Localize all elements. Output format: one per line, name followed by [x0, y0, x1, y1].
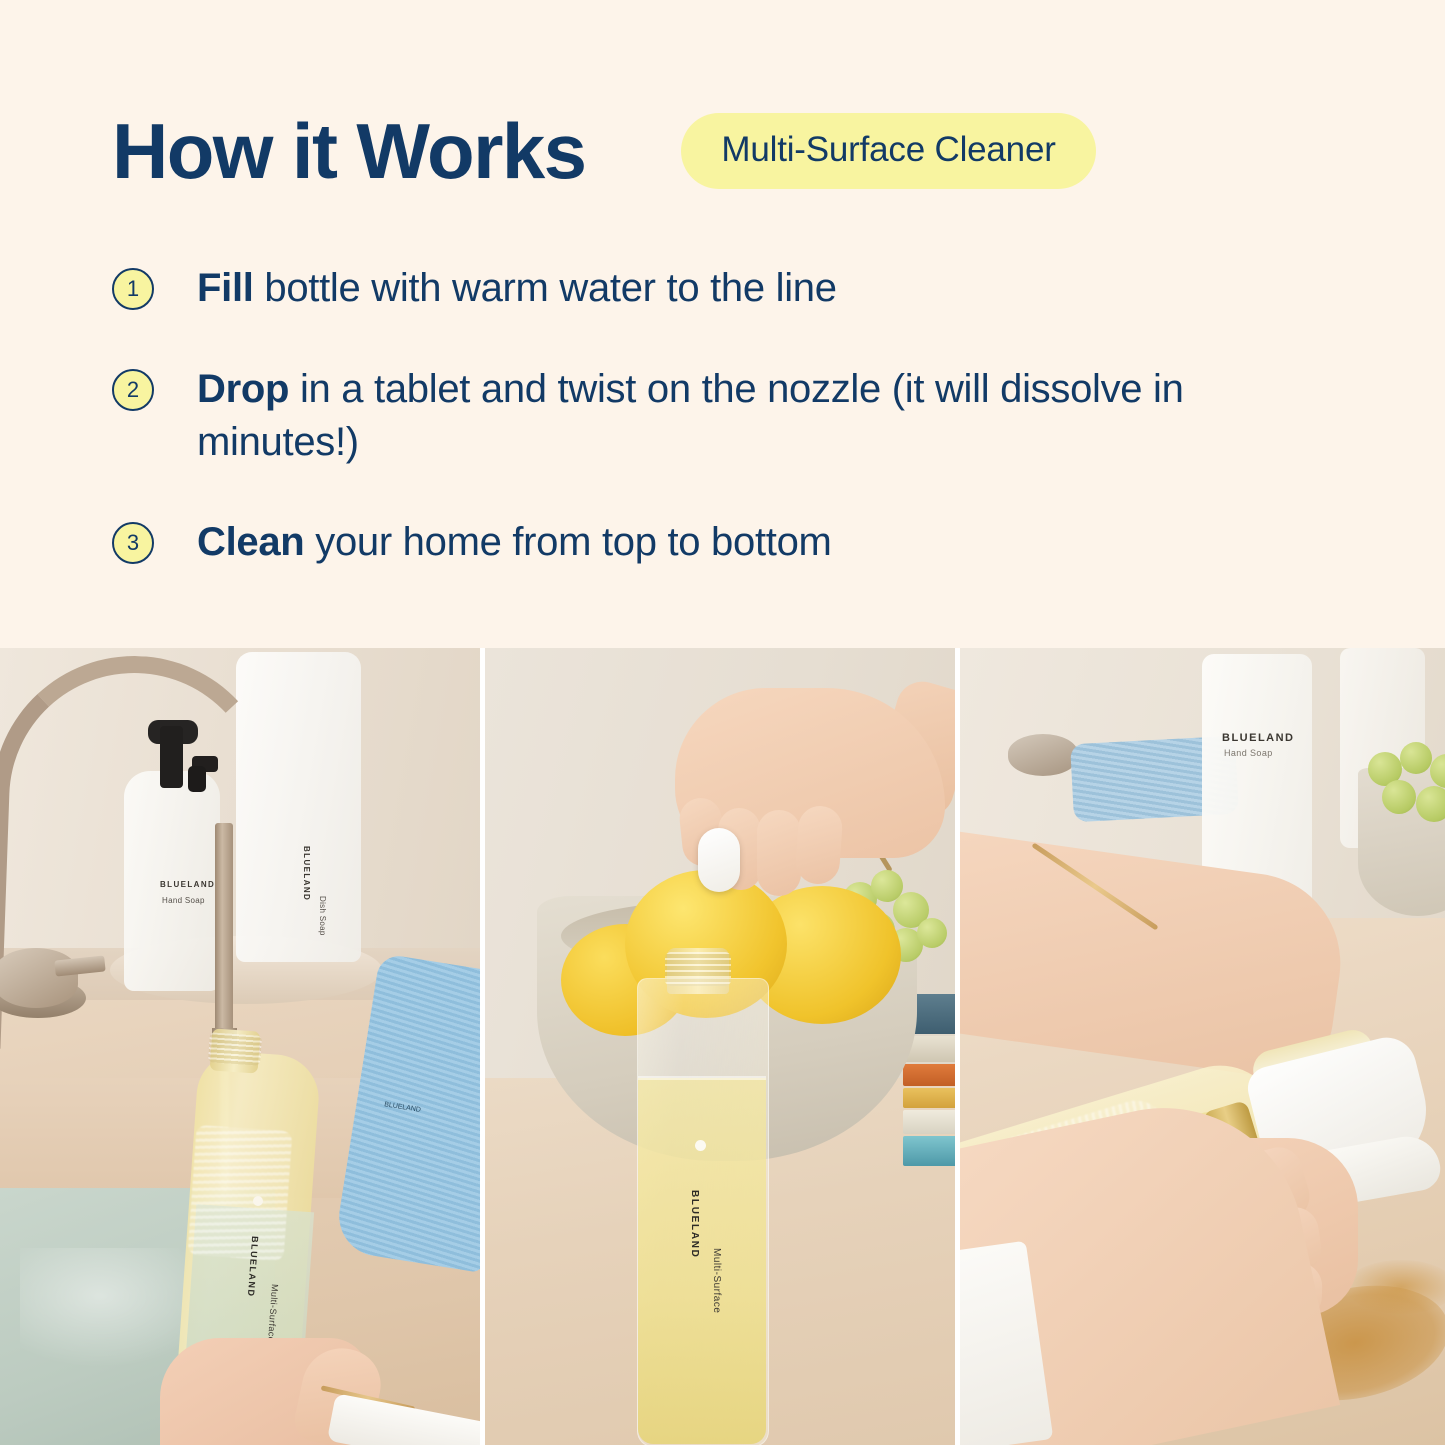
bottle-brand-label-2: BLUELAND — [689, 1190, 700, 1259]
step-rest-3: your home from top to bottom — [304, 520, 831, 564]
grape — [1382, 780, 1416, 814]
hand-soap-variant-label: Hand Soap — [1224, 748, 1273, 758]
header-row: How it Works Multi-Surface Cleaner — [112, 112, 1096, 190]
book-5 — [903, 1110, 955, 1134]
step-item-1: 1 Fill bottle with warm water to the lin… — [112, 262, 1342, 315]
bottle-variant-label-2: Multi-Surface — [711, 1248, 722, 1313]
step-number-badge-1: 1 — [112, 268, 154, 310]
step-number-badge-3: 3 — [112, 522, 154, 564]
faucet-knob — [1008, 734, 1078, 776]
step-text-2: Drop in a tablet and twist on the nozzle… — [197, 363, 1342, 469]
grape — [1400, 742, 1432, 774]
book-3 — [903, 1064, 955, 1086]
fill-line-dot — [253, 1196, 263, 1206]
how-it-works-infographic: How it Works Multi-Surface Cleaner 1 Fil… — [0, 0, 1445, 1445]
fruit-bowl — [1358, 768, 1445, 916]
step-lead-3: Clean — [197, 520, 304, 564]
step-rest-1: bottle with warm water to the line — [254, 266, 837, 310]
grape — [1416, 786, 1445, 822]
bottle-bubbles — [188, 1125, 293, 1261]
bottle-liquid — [638, 1078, 766, 1444]
photo-strip: BLUELAND Dish Soap BLUELAND Hand Soap BL… — [0, 648, 1445, 1445]
liquid-spill-secondary — [1346, 1260, 1445, 1314]
instructions-section: How it Works Multi-Surface Cleaner 1 Fil… — [0, 0, 1445, 648]
bottle-threads — [208, 1032, 262, 1066]
dish-soap-brand-label: BLUELAND — [302, 846, 311, 901]
step-number-badge-2: 2 — [112, 369, 154, 411]
hand-soap-brand-label: BLUELAND — [1222, 732, 1295, 744]
step-lead-1: Fill — [197, 266, 254, 310]
finger — [757, 810, 801, 896]
fill-line-dot — [695, 1140, 706, 1151]
photo-panel-twist-nozzle: BLUELAND Hand Soap BLUELAND Multi-Surfac… — [960, 648, 1445, 1445]
grape — [917, 918, 947, 948]
photo-panel-fill: BLUELAND Dish Soap BLUELAND Hand Soap BL… — [0, 648, 480, 1445]
faucet-downpipe — [215, 823, 233, 1045]
steps-list: 1 Fill bottle with warm water to the lin… — [112, 262, 1342, 569]
photo-panel-drop-tablet: BLUELAND Multi-Surface — [485, 648, 955, 1445]
cleaning-tablet — [698, 828, 740, 892]
step-rest-2: in a tablet and twist on the nozzle (it … — [197, 367, 1184, 464]
step-text-1: Fill bottle with warm water to the line — [197, 262, 837, 315]
finger — [794, 805, 843, 886]
step-text-3: Clean your home from top to bottom — [197, 516, 832, 569]
book-6 — [903, 1136, 955, 1166]
faucet-handle — [0, 948, 78, 1008]
book-4 — [903, 1088, 955, 1108]
step-item-2: 2 Drop in a tablet and twist on the nozz… — [112, 363, 1342, 469]
fill-line — [638, 1076, 766, 1080]
product-badge: Multi-Surface Cleaner — [681, 113, 1095, 189]
step-lead-2: Drop — [197, 367, 289, 411]
step-item-3: 3 Clean your home from top to bottom — [112, 516, 1342, 569]
page-title: How it Works — [112, 112, 585, 190]
dish-soap-variant-label: Dish Soap — [318, 896, 327, 936]
